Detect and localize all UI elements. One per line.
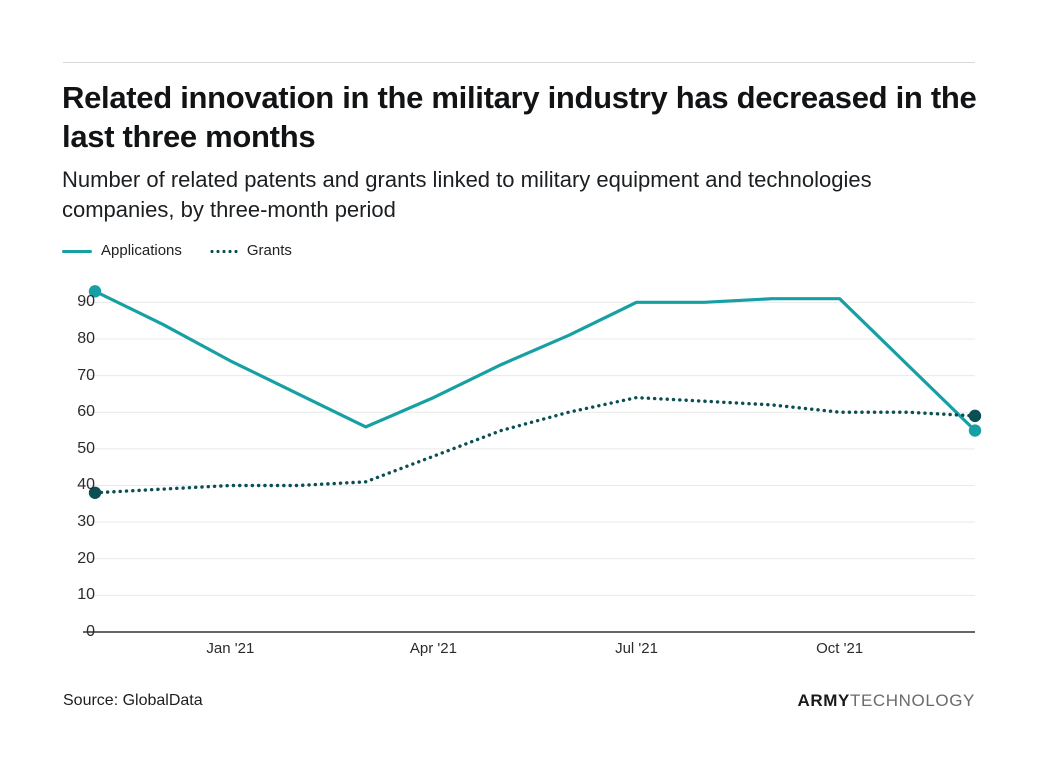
- y-axis-tick-label: 60: [45, 403, 95, 421]
- y-axis-tick-label: 90: [45, 293, 95, 311]
- y-axis-tick-label: 20: [45, 550, 95, 568]
- chart-area: 0102030405060708090 Jan '21Apr '21Jul '2…: [0, 0, 1038, 778]
- y-axis-tick-label: 50: [45, 440, 95, 458]
- source-note: Source: GlobalData: [63, 692, 203, 710]
- gridlines: [83, 302, 975, 595]
- series-line-applications: [95, 291, 975, 430]
- data-point-marker-grants-last: [969, 410, 981, 422]
- brand-logo-bold: ARMY: [798, 691, 850, 710]
- y-axis-tick-label: 70: [45, 367, 95, 385]
- y-axis-tick-label: 30: [45, 513, 95, 531]
- x-axis-tick-label: Jan '21: [206, 640, 254, 657]
- y-axis-tick-label: 0: [45, 623, 95, 641]
- y-axis-tick-label: 10: [45, 586, 95, 604]
- y-axis-tick-label: 40: [45, 476, 95, 494]
- brand-logo-light: TECHNOLOGY: [850, 691, 975, 710]
- x-axis-tick-label: Oct '21: [816, 640, 863, 657]
- line-chart-svg: [0, 0, 1038, 778]
- chart-page: Related innovation in the military indus…: [0, 0, 1038, 778]
- x-axis-tick-label: Apr '21: [410, 640, 457, 657]
- x-axis-tick-label: Jul '21: [615, 640, 658, 657]
- series-layer: [89, 285, 981, 499]
- brand-logo: ARMYTECHNOLOGY: [798, 691, 976, 711]
- y-axis-tick-label: 80: [45, 330, 95, 348]
- data-point-marker-applications-last: [969, 424, 981, 436]
